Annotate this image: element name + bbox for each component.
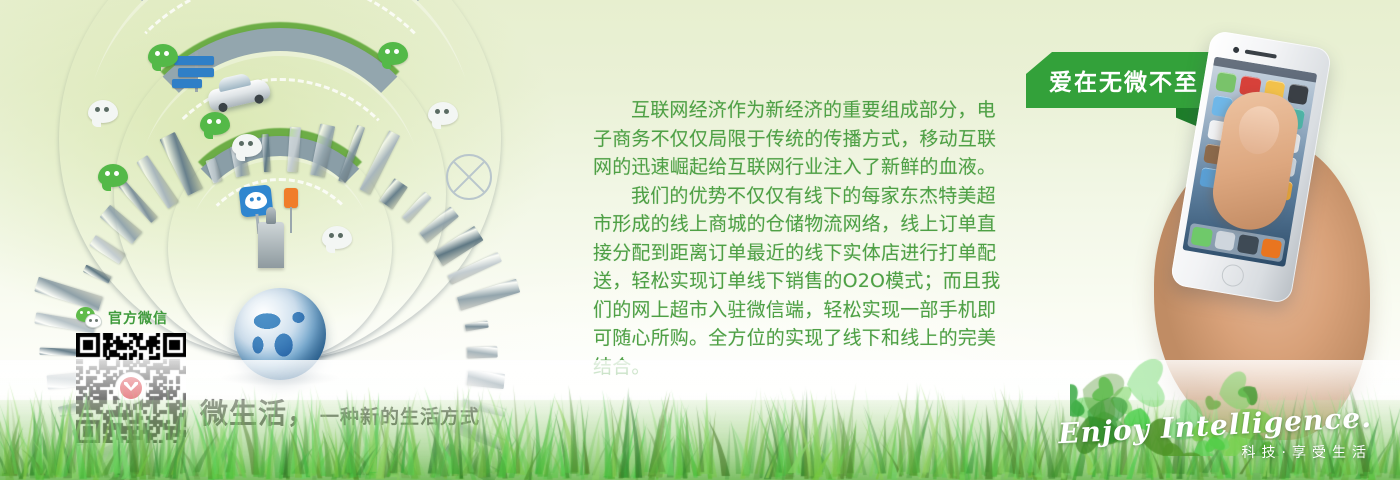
phone-camera [1233,46,1240,53]
signature-script: Enjoy Intelligence. [1057,401,1372,450]
monument-icon [258,222,284,268]
chat-bubble-icon [200,112,230,135]
tagline-primary: 微生活， [200,392,316,432]
dock-icon [1237,234,1259,255]
chat-bubble-icon [322,226,352,249]
phone-earpiece [1245,49,1277,58]
wechat-qr-block: 官方微信 [76,306,194,443]
dock-icon [1260,238,1282,259]
building [457,279,520,311]
signature-block: Enjoy Intelligence. 科技·享受生活 [1058,409,1372,462]
ferris-wheel-icon [446,154,492,200]
dock-icon [1190,226,1212,247]
qr-center-logo [118,375,144,401]
body-copy: 互联网经济作为新经济的重要组成部分，电子商务不仅仅局限于传统的传播方式，移动互联… [593,96,1011,381]
building [441,443,500,480]
road-sign-icon [172,52,218,98]
chat-bubble-icon [378,42,408,65]
paragraph-2: 我们的优势不仅仅有线下的每家东杰特美超市形成的线上商城的仓储物流网络，线上订单直… [593,182,1011,382]
building [466,371,504,390]
parking-meter-icon [284,188,298,208]
chat-bubble-icon [148,44,178,67]
building [90,444,118,467]
building [74,467,131,480]
chat-bubble-icon [232,134,262,157]
paragraph-1: 互联网经济作为新经济的重要组成部分，电子商务不仅仅局限于传统的传播方式，移动互联… [593,96,1011,182]
dock-icon [1214,230,1236,251]
app-icon [1287,83,1309,105]
building [468,347,498,359]
building [465,321,489,332]
wechat-icon [76,307,102,329]
thumbnail [1235,103,1282,157]
wechat-qr-header: 官方微信 [76,306,194,330]
banner-stage: 互联网经济作为新经济的重要组成部分，电子商务不仅仅局限于传统的传播方式，移动互联… [0,0,1400,480]
globe-icon [234,288,326,380]
app-icon [1215,71,1237,93]
phone-in-hand [1130,0,1400,430]
tagline: 微生活， 一种新的生活方式 [200,392,480,432]
signature-chinese: 科技·享受生活 [1242,445,1372,461]
phone-home-button [1220,263,1245,288]
chat-bubble-icon [428,102,458,125]
tagline-secondary: 一种新的生活方式 [320,402,480,429]
qr-code[interactable] [76,333,186,443]
wechat-label: 官方微信 [108,308,168,328]
chat-bubble-icon [88,100,118,123]
chat-bubble-icon [98,164,128,187]
phone-dock [1187,223,1286,263]
